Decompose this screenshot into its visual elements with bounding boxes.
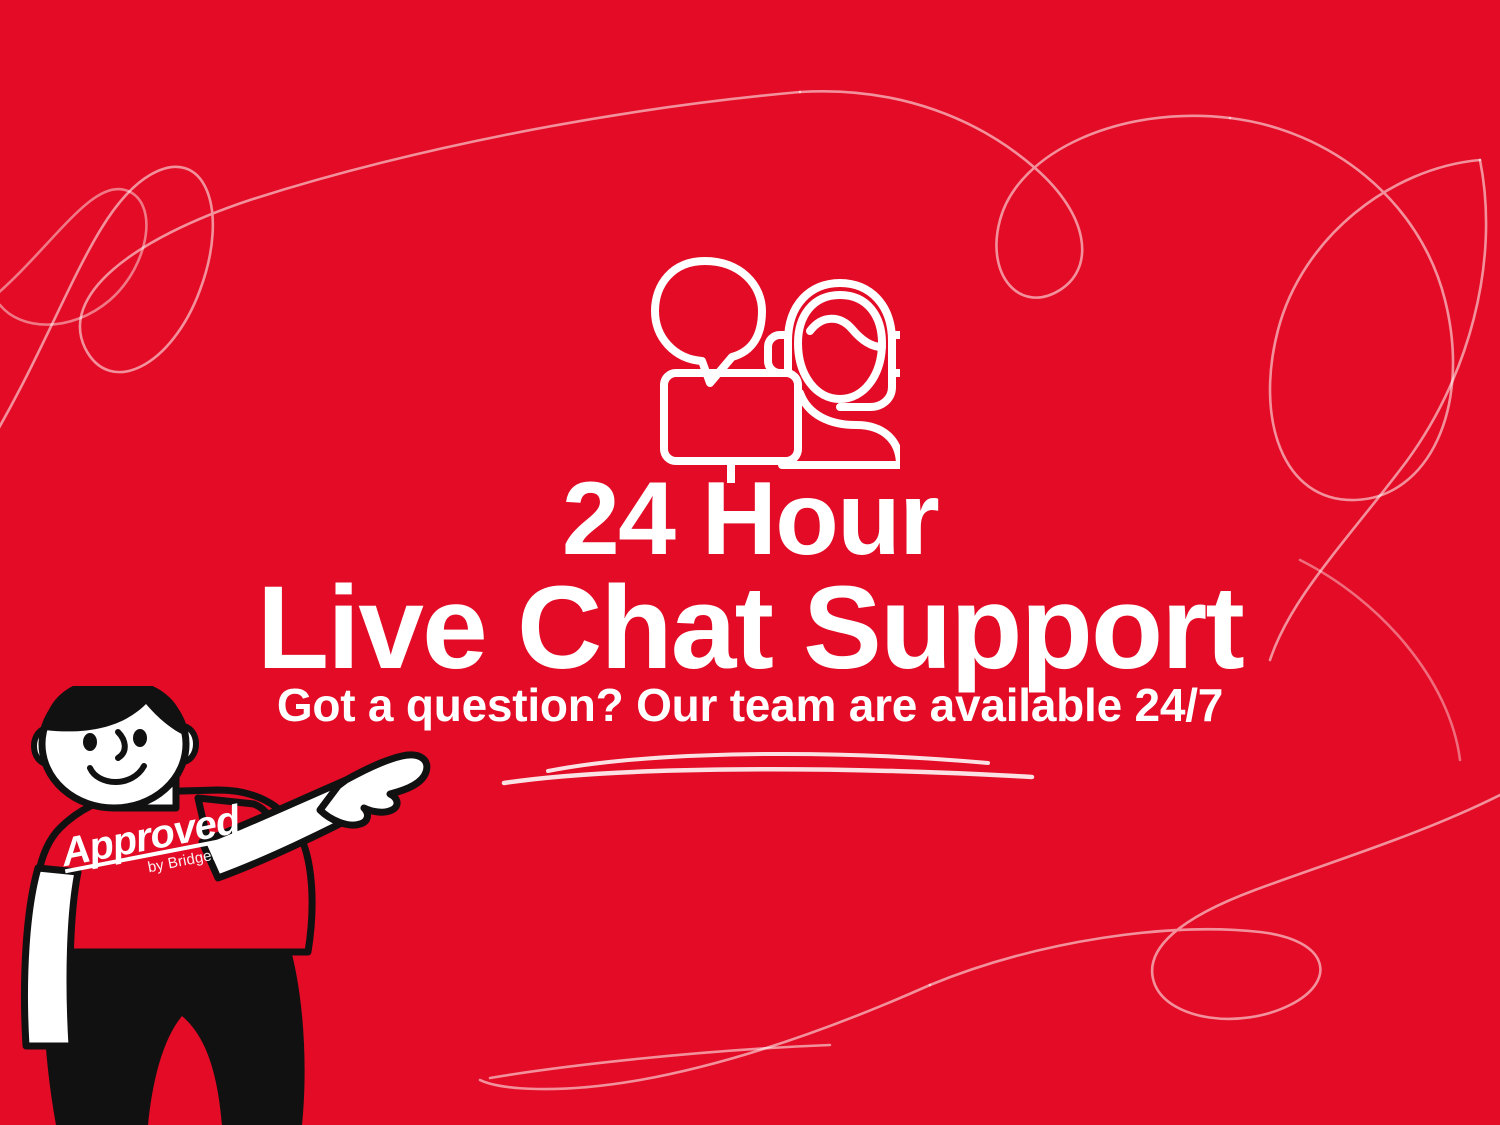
monitor-screen-icon [664,373,798,461]
character-pointing-hand [320,755,427,825]
speech-bubble-icon [655,261,762,383]
pointing-character [0,686,446,1125]
headline-line-2: Live Chat Support [0,572,1500,685]
character-eye-right [133,729,147,747]
promo-banner: 24 Hour Live Chat Support Got a question… [0,0,1500,1125]
headline-line-1: 24 Hour [0,470,1500,570]
headset-earpiece-right-icon [892,335,900,373]
live-chat-support-icon [650,243,900,483]
character-eye-left [83,733,97,751]
agent-hair-icon [810,319,882,347]
character-left-arm [25,868,79,1046]
headset-earpiece-left-icon [768,335,788,373]
headline-block: 24 Hour Live Chat Support [0,470,1500,685]
hand-drawn-underline-icon [460,745,1080,805]
character-trousers [44,934,305,1125]
